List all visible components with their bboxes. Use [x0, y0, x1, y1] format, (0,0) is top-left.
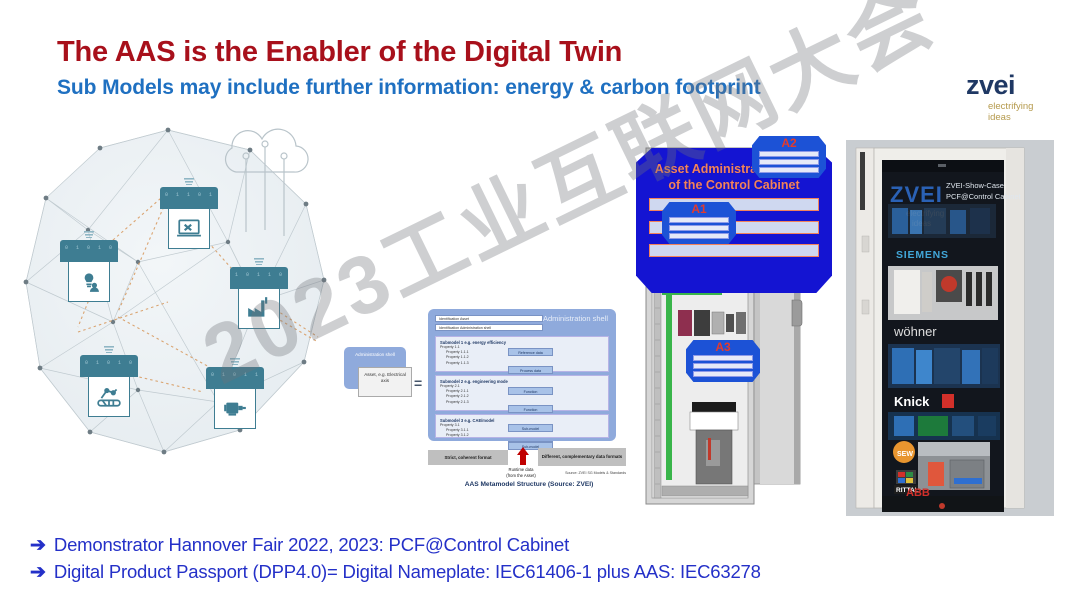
network-node-motor: 0 1 0 1 1 — [206, 367, 264, 427]
node-header: 0 1 0 1 0 — [60, 240, 118, 262]
label-text: A2 — [752, 137, 826, 150]
metamodel-footer-left: Strict, coherent format — [428, 450, 508, 465]
submodel-chip: Sub-model — [508, 424, 553, 432]
node-header: 0 1 0 1 1 — [206, 367, 264, 389]
label-line — [759, 159, 819, 165]
page-title: The AAS is the Enabler of the Digital Tw… — [57, 36, 622, 69]
svg-text:SIEMENS: SIEMENS — [896, 249, 949, 261]
arrow-icon: ➔ — [30, 536, 46, 555]
photo-content: ZVEI ZVEI-Show-Case PCF@Control Cabinet … — [846, 140, 1054, 516]
label-line — [669, 217, 729, 223]
zvei-tagline-line2: ideas — [988, 113, 1066, 124]
metamodel-shell-box: Administration shell Identification Asse… — [428, 309, 616, 441]
control-cabinet-photo: ZVEI ZVEI-Show-Case PCF@Control Cabinet … — [846, 140, 1054, 516]
arrow-icon: ➔ — [30, 563, 46, 582]
metamodel-id-shell: Identification Administration shell — [435, 324, 543, 331]
svg-text:ZVEI: ZVEI — [890, 182, 943, 207]
metamodel-asset-shell-title: Administration shell — [355, 352, 395, 357]
metamodel-submodel-1: Submodel 1 e.g. energy efficiency Proper… — [435, 336, 609, 372]
svg-text:Knick: Knick — [894, 394, 930, 409]
metamodel-id-asset: Identification Asset — [435, 315, 543, 322]
cabinet-label-a2[interactable]: A2 — [752, 136, 826, 178]
network-node-robot: 0 1 0 1 0 — [80, 355, 138, 415]
node-bits: 0 1 0 1 0 — [65, 245, 115, 251]
cabinet-label-a3[interactable]: A3 — [686, 340, 760, 382]
motor-icon — [214, 387, 256, 429]
metamodel-submodel-3: Submodel 3 e.g. CAE/model Property 3.1 P… — [435, 414, 609, 438]
network-node-factory: 1 0 1 1 0 — [230, 267, 288, 327]
factory-icon — [238, 287, 280, 329]
metamodel-source-note: Source: ZVEI SG Models & Standards — [550, 471, 626, 475]
metamodel-shell-title: Administration shell — [543, 314, 608, 323]
svg-text:SEW: SEW — [897, 451, 913, 458]
cabinet-label-a1[interactable]: A1 — [662, 202, 736, 244]
label-line — [669, 233, 729, 239]
node-header: 0 1 0 1 0 — [80, 355, 138, 377]
label-line — [693, 355, 753, 361]
submodel-chip: Function — [508, 387, 553, 395]
metamodel-footer-right: Different, complementary data formats — [538, 448, 626, 466]
label-text: A1 — [662, 203, 736, 216]
label-line — [693, 363, 753, 369]
aas-callout-bar — [649, 244, 819, 257]
zvei-tagline: electrifying ideas — [988, 102, 1066, 124]
network-node-laptop: 0 1 1 0 1 — [160, 187, 218, 247]
label-line — [759, 167, 819, 173]
submodel-chip: Process data — [508, 366, 553, 374]
metamodel-submodel-2: Submodel 2 e.g. engineering mode Propert… — [435, 375, 609, 411]
zvei-wordmark: zvei — [966, 72, 1066, 99]
lightbulb-person-icon — [68, 260, 110, 302]
svg-text:ZVEI-Show-Case: ZVEI-Show-Case — [946, 181, 1004, 190]
label-line — [759, 151, 819, 157]
svg-text:PCF@Control Cabinet: PCF@Control Cabinet — [946, 192, 1022, 201]
label-text: A3 — [686, 341, 760, 354]
submodel-chip: Function — [508, 405, 553, 413]
runtime-note-line2: (from the Asset) — [486, 473, 556, 479]
svg-text:wöhner: wöhner — [893, 324, 937, 339]
bullet-item: ➔ Demonstrator Hannover Fair 2022, 2023:… — [30, 534, 761, 556]
bullet-text: Demonstrator Hannover Fair 2022, 2023: P… — [54, 534, 569, 556]
bullet-text: Digital Product Passport (DPP4.0)= Digit… — [54, 561, 761, 583]
metamodel-equals: = — [414, 375, 422, 391]
bullet-item: ➔ Digital Product Passport (DPP4.0)= Dig… — [30, 561, 761, 583]
runtime-data-arrow-icon — [516, 447, 530, 465]
metamodel-runtime-note: Runtime data (from the Asset) — [486, 467, 556, 478]
metamodel-asset-inner: Asset, e.g. Electrical axis — [358, 367, 412, 397]
page-subtitle: Sub Models may include further informati… — [57, 76, 761, 100]
zvei-logo: zvei electrifying ideas — [966, 72, 1066, 124]
network-node-innovation: 0 1 0 1 0 — [60, 240, 118, 300]
metamodel-caption: AAS Metamodel Structure (Source: ZVEI) — [414, 481, 644, 488]
aas-metamodel-diagram: Administration shell Asset, e.g. Electri… — [336, 295, 628, 485]
metamodel-asset-shell-box: Administration shell Asset, e.g. Electri… — [344, 347, 406, 389]
laptop-tools-icon — [168, 207, 210, 249]
slide-root: The AAS is the Enabler of the Digital Tw… — [0, 0, 1080, 608]
network-graphic: 0 1 1 0 1 0 1 0 1 0 — [18, 112, 348, 472]
node-header: 1 0 1 1 0 — [230, 267, 288, 289]
node-bits: 1 0 1 1 0 — [235, 272, 285, 278]
node-bits: 0 1 0 1 1 — [211, 372, 261, 378]
node-bits: 0 1 1 0 1 — [165, 192, 215, 198]
aas-callout-title-line2: of the Control Cabinet — [636, 177, 832, 193]
node-bits: 0 1 0 1 0 — [85, 360, 135, 366]
label-line — [669, 225, 729, 231]
robot-arm-icon — [88, 375, 130, 417]
bullet-list: ➔ Demonstrator Hannover Fair 2022, 2023:… — [30, 534, 761, 588]
node-header: 0 1 1 0 1 — [160, 187, 218, 209]
label-line — [693, 371, 753, 377]
submodel-chip: Reference data — [508, 348, 553, 356]
